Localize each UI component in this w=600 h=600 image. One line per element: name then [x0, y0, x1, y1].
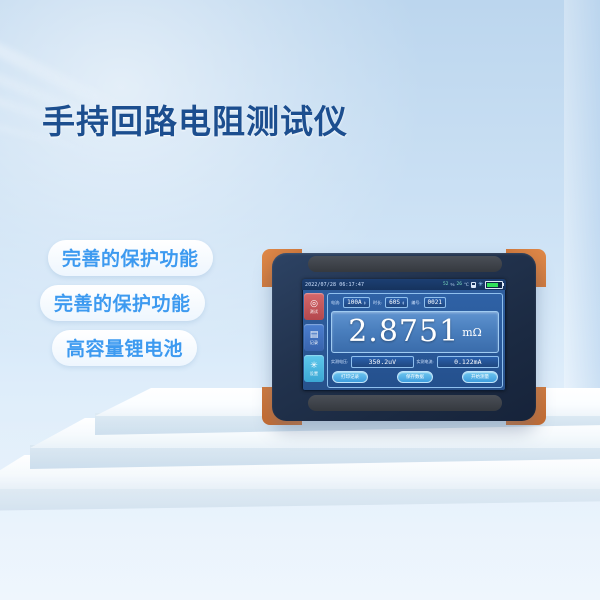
resistance-unit: mΩ	[462, 326, 482, 339]
list-item: 完善的保护功能	[0, 285, 260, 330]
sidebar-item-label: 记录	[310, 340, 318, 346]
chevron-updown-icon[interactable]: ▴▾	[402, 301, 404, 305]
measured-voltage-value: 350.2uV	[351, 356, 413, 368]
feature-list: 完善的保护功能 完善的保护功能 高容量锂电池	[0, 240, 260, 375]
screen-sidebar: ◎ 测试 ▤ 记录 ✳ 设置	[304, 293, 324, 382]
duration-label: 时长:	[373, 300, 382, 306]
status-icons: 52 % 26 ℃ ✳	[443, 281, 503, 289]
print-record-button[interactable]: 打印记录	[332, 371, 368, 383]
measured-current-label: 实测电流:	[417, 359, 434, 365]
feature-pill: 完善的保护功能	[40, 285, 205, 321]
measured-voltage-label: 实测电压:	[331, 359, 348, 365]
list-item: 完善的保护功能	[0, 240, 260, 285]
sidebar-item-label: 测试	[310, 309, 318, 315]
current-select[interactable]: 100A ▴▾	[343, 297, 370, 308]
humidity-value: 52	[443, 282, 448, 287]
sidebar-item-test[interactable]: ◎ 测试	[304, 293, 324, 320]
records-icon: ▤	[310, 329, 319, 339]
chevron-updown-icon[interactable]: ▴▾	[364, 301, 366, 305]
device-screen[interactable]: 2022/07/28 06:17:47 52 % 26 ℃ ✳ ◎ 测试	[302, 279, 506, 391]
start-measure-button[interactable]: 开始测量	[462, 371, 498, 383]
test-icon: ◎	[310, 298, 318, 308]
handheld-loop-resistance-tester: 2022/07/28 06:17:47 52 % 26 ℃ ✳ ◎ 测试	[262, 249, 546, 425]
feature-pill: 高容量锂电池	[52, 330, 197, 366]
serial-value: 0021	[428, 299, 442, 306]
duration-value: 60S	[389, 299, 400, 306]
rubber-grip-bottom	[308, 395, 502, 411]
primary-reading: 2.8751 mΩ	[331, 311, 499, 353]
sidebar-item-label: 设置	[310, 371, 318, 377]
current-value: 100A	[347, 299, 361, 306]
save-data-button[interactable]: 保存数据	[397, 371, 433, 383]
measured-current-value: 0.122mA	[437, 356, 499, 368]
current-label: 电流:	[331, 300, 340, 306]
rubber-grip-top	[308, 256, 502, 272]
serial-label: 编号:	[411, 300, 420, 306]
page-title: 手持回路电阻测试仪	[42, 95, 348, 143]
sidebar-item-settings[interactable]: ✳ 设置	[304, 355, 324, 382]
list-item: 高容量锂电池	[0, 330, 260, 375]
secondary-readings: 实测电压: 350.2uV 实测电流: 0.122mA	[331, 356, 499, 368]
parameter-row: 电流: 100A ▴▾ 时长: 60S ▴▾ 编号: 0021	[331, 297, 499, 308]
status-datetime: 2022/07/28 06:17:47	[305, 282, 364, 288]
wall-edge	[564, 0, 600, 420]
status-bar: 2022/07/28 06:17:47 52 % 26 ℃ ✳	[302, 279, 506, 290]
product-banner: 手持回路电阻测试仪 完善的保护功能 完善的保护功能 高容量锂电池 2022/07…	[0, 0, 600, 600]
sidebar-item-records[interactable]: ▤ 记录	[304, 324, 324, 351]
measurement-panel: 电流: 100A ▴▾ 时长: 60S ▴▾ 编号: 0021	[327, 293, 503, 388]
battery-full-icon	[485, 281, 503, 289]
resistance-value: 2.8751	[348, 317, 459, 347]
humidity-unit-icon: %	[450, 282, 454, 287]
settings-icon: ✳	[310, 360, 318, 370]
feature-pill: 完善的保护功能	[48, 240, 213, 276]
sd-card-icon	[471, 282, 476, 288]
screen-actions: 打印记录 保存数据 开始测量	[331, 371, 499, 383]
bluetooth-icon: ✳	[478, 282, 483, 288]
temperature-unit-icon: ℃	[464, 282, 469, 288]
temperature-value: 26	[456, 282, 461, 287]
serial-field[interactable]: 0021	[424, 297, 446, 308]
duration-select[interactable]: 60S ▴▾	[385, 297, 408, 308]
